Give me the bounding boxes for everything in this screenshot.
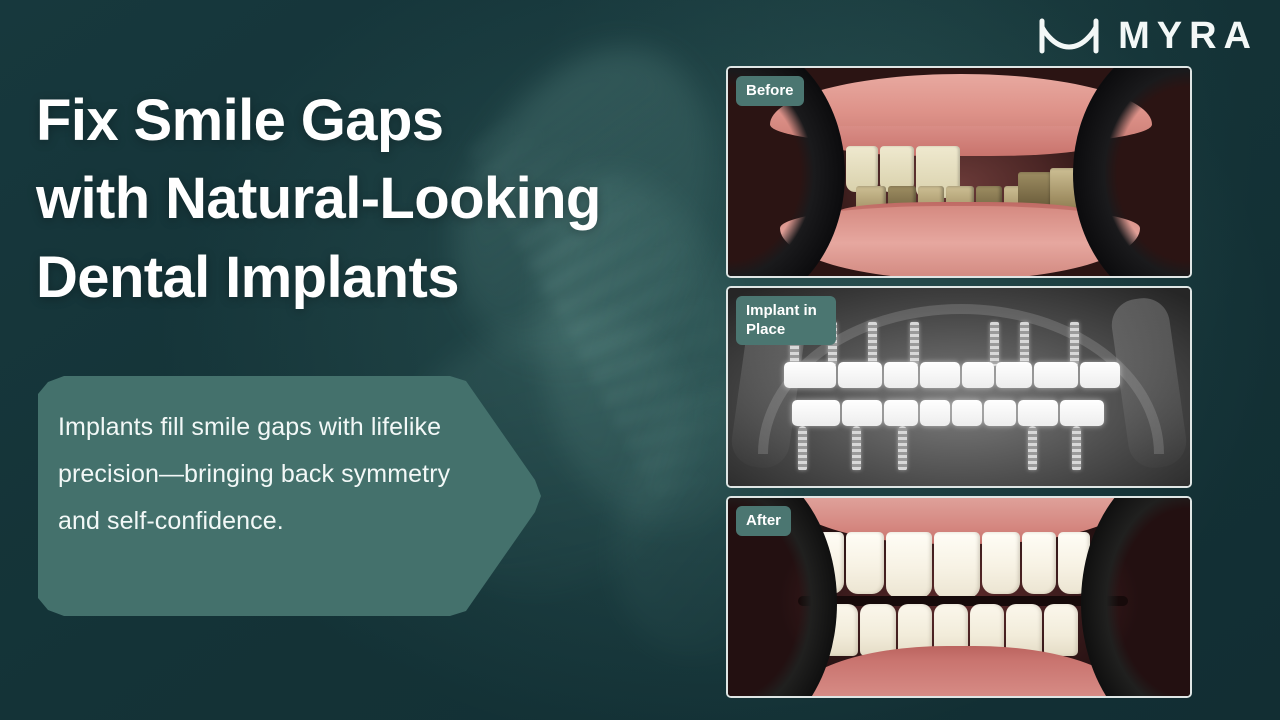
headline-line-1: Fix Smile Gaps xyxy=(36,82,736,160)
headline-line-3: Dental Implants xyxy=(36,239,736,317)
brand-logo: MYRA xyxy=(1038,10,1258,62)
implant-badge: Implant in Place xyxy=(736,296,836,345)
after-intraoral-photo xyxy=(728,498,1190,696)
smile-m-logo-icon xyxy=(1038,17,1100,55)
before-badge: Before xyxy=(736,76,804,106)
after-image-card[interactable]: After xyxy=(726,496,1192,698)
headline-line-2: with Natural-Looking xyxy=(36,160,736,238)
brand-name: MYRA xyxy=(1118,17,1258,55)
xray-image-card[interactable]: Implant in Place xyxy=(726,286,1192,488)
after-badge: After xyxy=(736,506,791,536)
before-image-card[interactable]: Before xyxy=(726,66,1192,278)
description-text: Implants fill smile gaps with lifelike p… xyxy=(58,404,478,545)
page-title: Fix Smile Gaps with Natural-Looking Dent… xyxy=(36,82,736,317)
slide-canvas: MYRA Fix Smile Gaps with Natural-Looking… xyxy=(0,0,1280,720)
image-stack: Before xyxy=(726,66,1192,698)
